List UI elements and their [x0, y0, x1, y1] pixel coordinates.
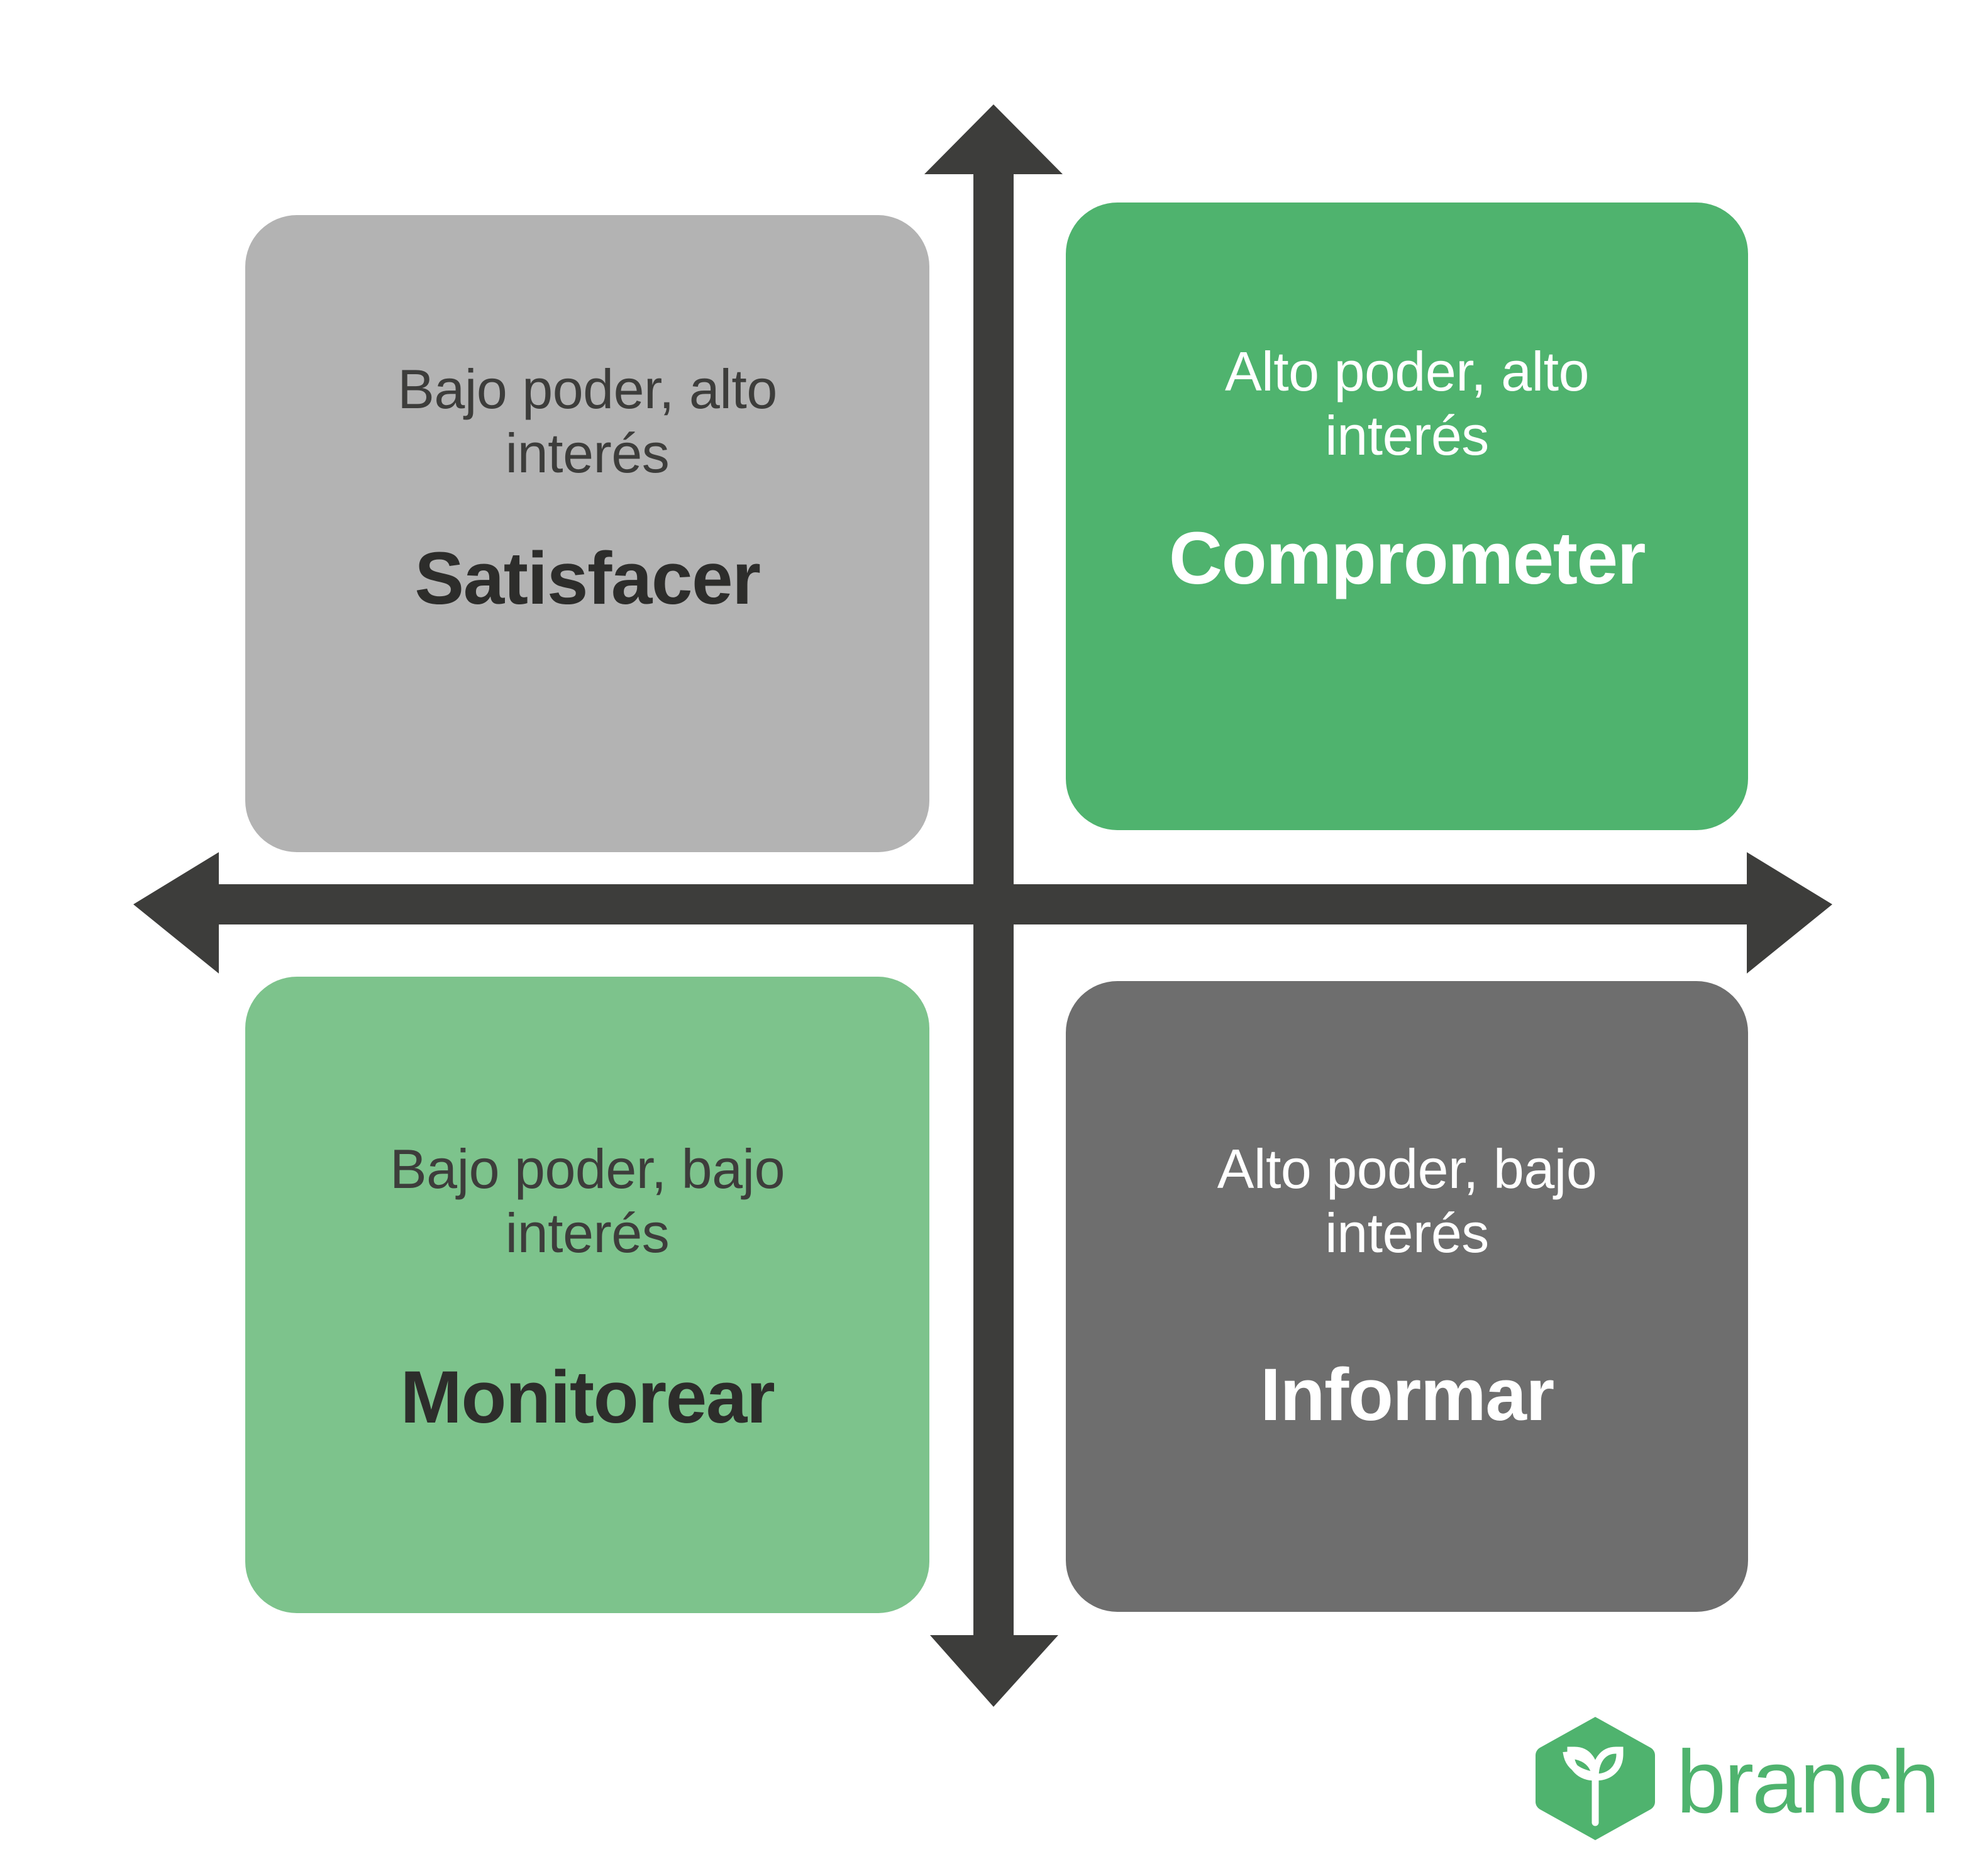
quadrant-title: Informar [1260, 1355, 1554, 1436]
arrow-up-icon [924, 104, 1063, 924]
quadrant-subtitle: Bajo poder, bajo interés [390, 1137, 785, 1265]
quadrant-subtitle: Alto poder, alto interés [1225, 340, 1589, 468]
quadrant-title: Comprometer [1169, 518, 1645, 600]
quadrant-high-power-low-interest[interactable]: Alto poder, bajo interés Informar [1066, 981, 1748, 1612]
branch-wordmark: branch [1676, 1738, 1938, 1827]
quadrant-low-power-high-interest[interactable]: Bajo poder, alto interés Satisfacer [245, 215, 929, 852]
vertical-axis-shaft [973, 174, 1014, 1640]
quadrant-high-power-high-interest[interactable]: Alto poder, alto interés Comprometer [1066, 203, 1748, 830]
branch-logo[interactable]: branch [1536, 1716, 1938, 1841]
vertical-axis [924, 104, 1063, 1707]
quadrant-low-power-low-interest[interactable]: Bajo poder, bajo interés Monitorear [245, 977, 929, 1613]
quadrant-subtitle: Alto poder, bajo interés [1217, 1137, 1597, 1265]
quadrant-title: Monitorear [401, 1357, 775, 1439]
arrow-right-icon [1747, 852, 1832, 974]
branch-sprout-hexagon-icon [1536, 1716, 1655, 1841]
arrow-down-icon [930, 1635, 1058, 1707]
horizontal-axis [133, 852, 1832, 974]
horizontal-axis-shaft [219, 884, 1754, 924]
quadrant-subtitle: Bajo poder, alto interés [397, 357, 777, 486]
stakeholder-matrix-diagram: Bajo poder, alto interés Satisfacer Alto… [0, 0, 1965, 1876]
quadrant-title: Satisfacer [414, 538, 760, 620]
arrow-left-icon [133, 852, 219, 974]
